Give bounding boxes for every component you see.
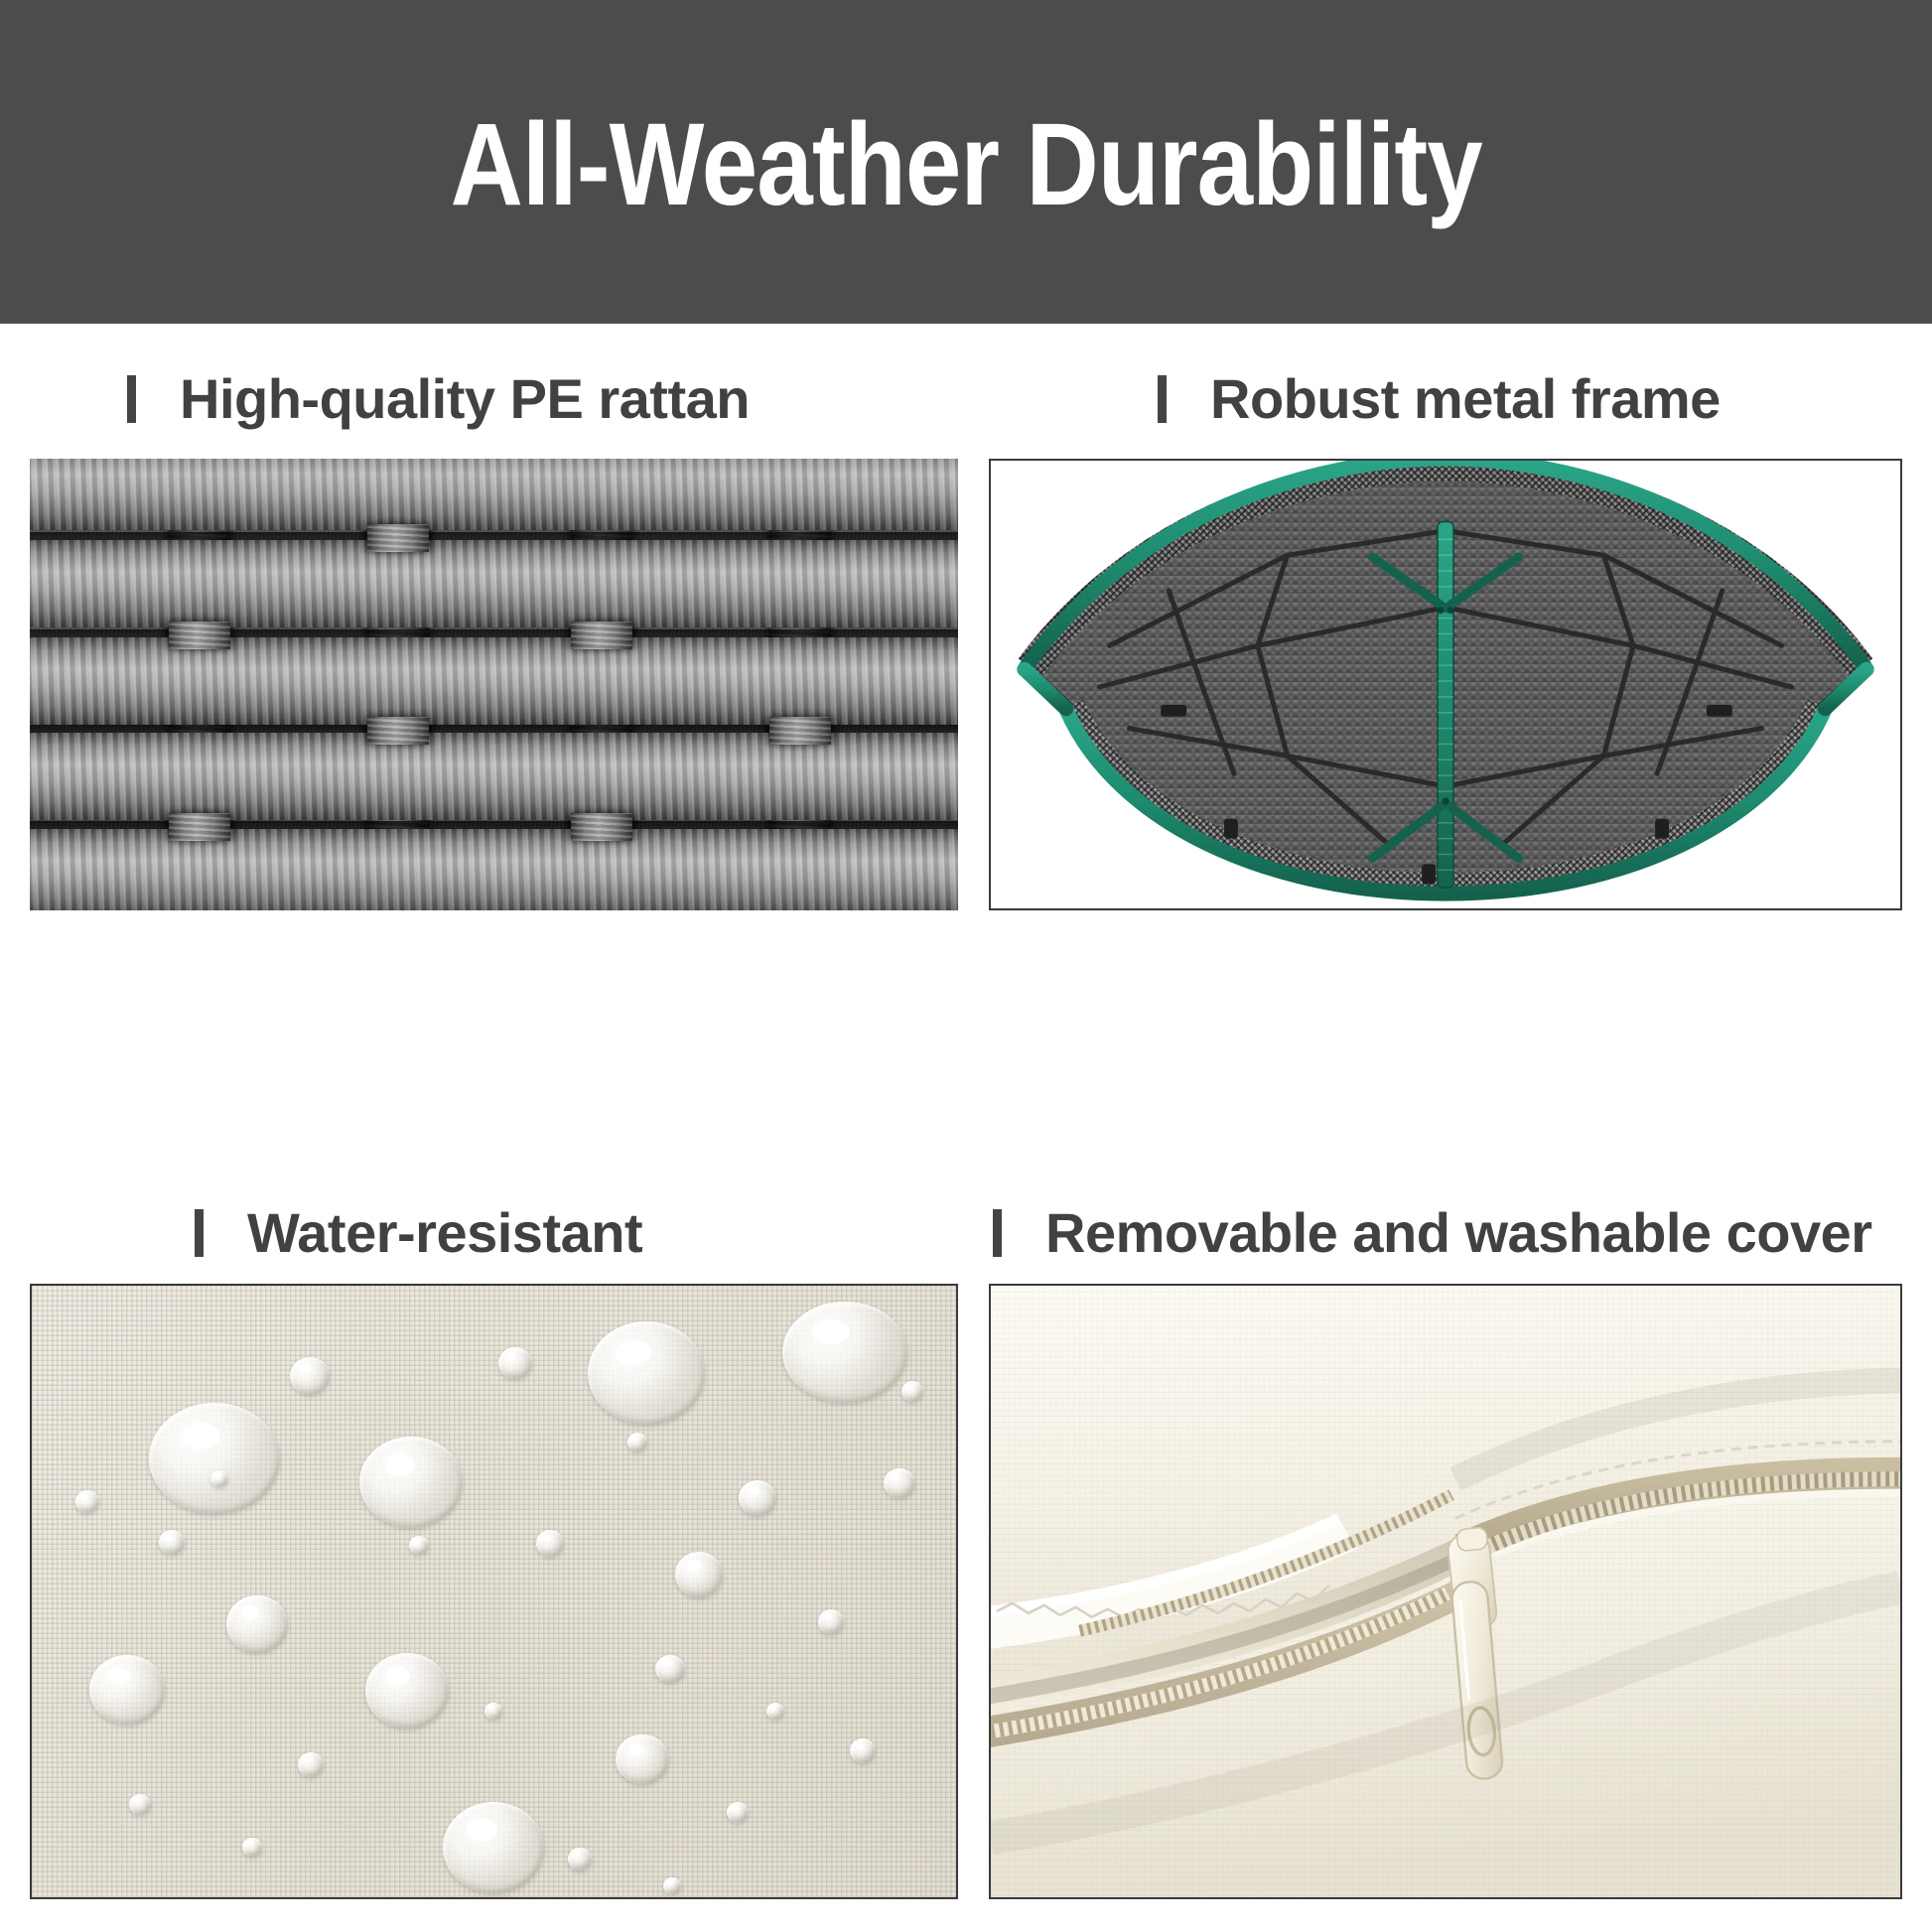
image-panel-metal-frame <box>989 459 1902 910</box>
brace-bolt-upper <box>1448 607 1454 614</box>
header-banner: All-Weather Durability <box>0 0 1932 324</box>
image-panel-water-resistant <box>30 1284 958 1899</box>
mounting-clip <box>1422 864 1436 884</box>
mounting-clip <box>1161 705 1186 717</box>
panel-label-rattan: High-quality PE rattan <box>127 369 750 429</box>
cushion-zipper-illustration <box>991 1286 1900 1897</box>
image-panel-rattan <box>30 459 958 910</box>
brace-bolt-lower <box>1442 797 1449 804</box>
bar-marker-icon <box>127 375 136 423</box>
page-title: All-Weather Durability <box>450 106 1481 223</box>
panel-label-water: Water-resistant <box>195 1203 642 1263</box>
rattan-weave-photo <box>30 459 958 910</box>
panel-label-cover: Removable and washable cover <box>993 1203 1872 1263</box>
brace-bolt-upper <box>1438 607 1445 614</box>
mounting-clip <box>1707 705 1732 717</box>
feature-infographic-page: All-Weather Durability High-quality PE r… <box>0 0 1932 1932</box>
panel-label-text-frame: Robust metal frame <box>1210 371 1721 427</box>
mounting-clip <box>1655 819 1669 839</box>
mounting-clip <box>1224 819 1238 839</box>
zipper-cover-photo <box>991 1286 1900 1897</box>
panel-label-text-rattan: High-quality PE rattan <box>180 371 750 427</box>
curved-seat-panel-illustration <box>991 461 1900 908</box>
image-panel-washable-cover <box>989 1284 1902 1899</box>
metal-frame-photo <box>991 461 1900 908</box>
panel-label-frame: Robust metal frame <box>1158 369 1721 429</box>
bar-marker-icon <box>1158 375 1167 423</box>
teal-center-strut <box>1438 521 1453 888</box>
water-resistant-fabric-photo <box>32 1286 956 1897</box>
panel-label-text-water: Water-resistant <box>247 1205 642 1261</box>
bar-marker-icon <box>195 1209 204 1257</box>
bar-marker-icon <box>993 1209 1002 1257</box>
panel-label-text-cover: Removable and washable cover <box>1045 1205 1872 1261</box>
